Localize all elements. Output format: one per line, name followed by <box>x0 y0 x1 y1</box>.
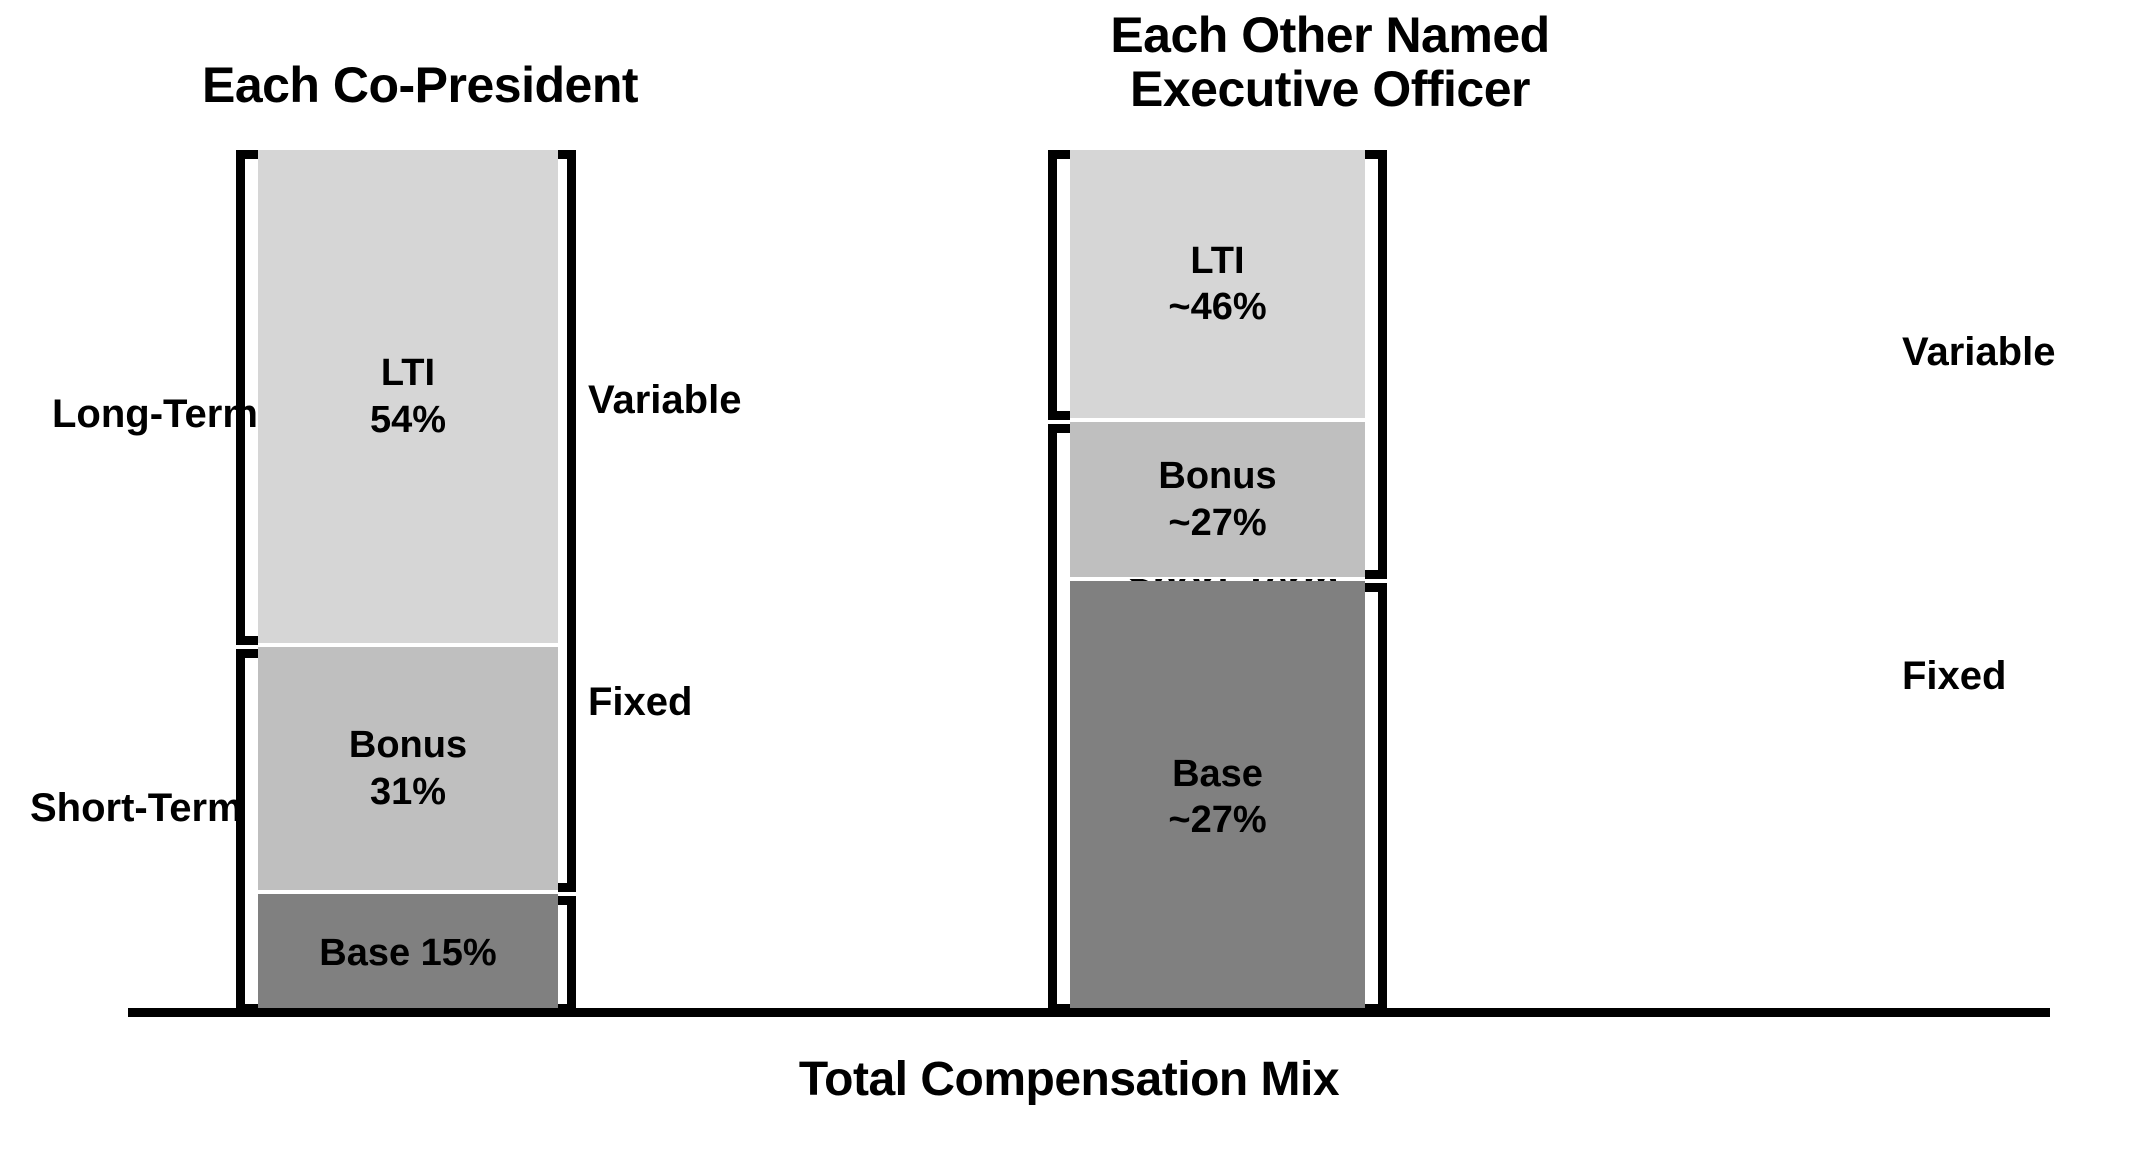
bar-segment-base-right-name: Base <box>1172 751 1263 797</box>
panel-title-left: Each Co-President <box>110 58 730 112</box>
bar-segment-lti-left-value: 54% <box>370 397 446 443</box>
label-variable-left: Variable <box>588 378 741 423</box>
bar-segment-lti-left: LTI 54% <box>258 150 558 645</box>
label-fixed-right: Fixed <box>1902 654 2006 699</box>
bar-segment-base-left: Base 15% <box>258 894 558 1013</box>
bar-segment-base-right-value: ~27% <box>1168 797 1266 843</box>
bar-segment-bonus-left-value: 31% <box>370 769 446 815</box>
label-long-term-left: Long-Term <box>52 392 258 437</box>
bar-segment-lti-left-name: LTI <box>381 350 435 396</box>
bar-segment-lti-right-value: ~46% <box>1168 284 1266 330</box>
bar-segment-base-right: Base ~27% <box>1070 581 1365 1013</box>
bar-segment-bonus-right-name: Bonus <box>1158 453 1276 499</box>
bar-segment-bonus-left-name: Bonus <box>349 722 467 768</box>
label-fixed-left: Fixed <box>588 680 692 725</box>
label-short-term-left: Short-Term <box>30 786 243 831</box>
bar-segment-lti-right: LTI ~46% <box>1070 150 1365 420</box>
x-axis-line <box>128 1008 2050 1017</box>
label-variable-right: Variable <box>1902 330 2055 375</box>
bar-segment-lti-right-name: LTI <box>1190 238 1244 284</box>
panel-title-right: Each Other Named Executive Officer <box>930 8 1730 116</box>
x-axis-label: Total Compensation Mix <box>0 1052 2138 1107</box>
bar-segment-bonus-right: Bonus ~27% <box>1070 422 1365 579</box>
bar-segment-base-left-label: Base 15% <box>319 930 496 976</box>
bar-segment-bonus-right-value: ~27% <box>1168 500 1266 546</box>
chart-canvas: Each Co-President Long-Term Short-Term V… <box>0 0 2138 1163</box>
bar-segment-bonus-left: Bonus 31% <box>258 647 558 892</box>
